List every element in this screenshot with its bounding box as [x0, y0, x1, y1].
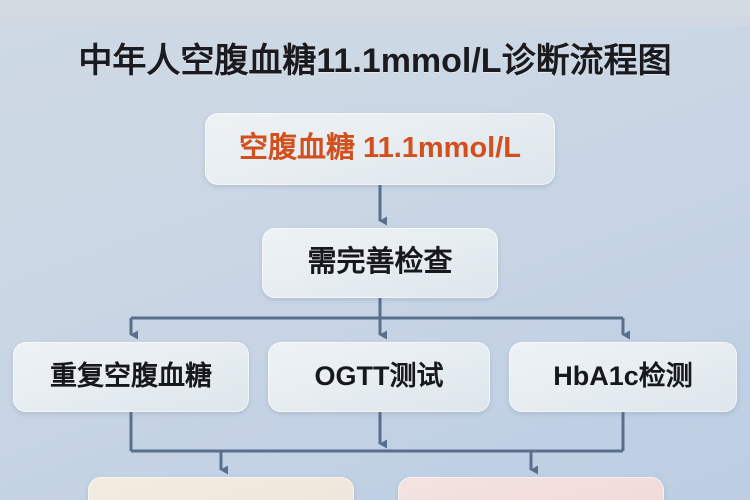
- node-outcome-left[interactable]: [88, 477, 354, 500]
- node-hba1c-label: HbA1c检测: [553, 362, 693, 392]
- node-repeat-fpg-label: 重复空腹血糖: [50, 362, 212, 392]
- flowchart-canvas: 中年人空腹血糖11.1mmol/L诊断流程图: [0, 0, 750, 500]
- node-outcome-right[interactable]: [398, 477, 664, 500]
- node-ogtt-label: OGTT测试: [315, 362, 444, 392]
- node-repeat-fpg[interactable]: 重复空腹血糖: [13, 342, 249, 412]
- node-ogtt[interactable]: OGTT测试: [268, 342, 490, 412]
- node-exam-label: 需完善检查: [307, 247, 452, 279]
- node-hba1c[interactable]: HbA1c检测: [509, 342, 737, 412]
- node-glucose-label: 空腹血糖 11.1mmol/L: [239, 133, 521, 165]
- top-band: [0, 0, 750, 26]
- node-glucose[interactable]: 空腹血糖 11.1mmol/L: [205, 113, 555, 185]
- node-exam[interactable]: 需完善检查: [262, 228, 498, 298]
- page-title: 中年人空腹血糖11.1mmol/L诊断流程图: [0, 26, 750, 88]
